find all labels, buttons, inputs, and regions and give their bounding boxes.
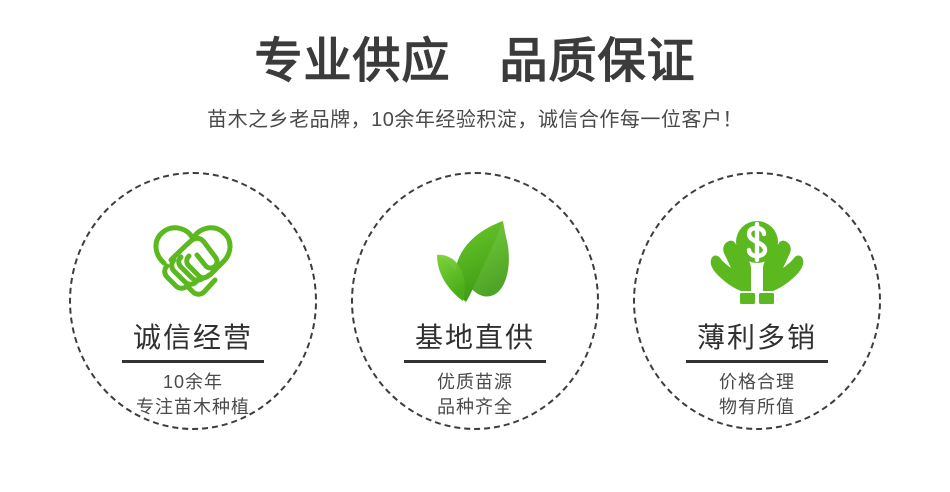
card-subtitle-line-2: 专注苗木种植: [136, 397, 250, 417]
card-subtitle-line-2: 品种齐全: [437, 397, 513, 417]
feature-card-integrity[interactable]: 诚信经营 10余年 专注苗木种植: [69, 172, 317, 430]
promo-banner: 专业供应 品质保证 苗木之乡老品牌，10余年经验积淀，诚信合作每一位客户！: [0, 0, 950, 492]
card-divider: [122, 360, 264, 363]
card-subtitle: 优质苗源 品种齐全: [437, 370, 513, 420]
card-divider: [404, 360, 546, 363]
card-subtitle-line-1: 10余年: [163, 372, 223, 392]
card-title: 基地直供: [415, 320, 535, 356]
feature-card-row: 诚信经营 10余年 专注苗木种植: [0, 172, 950, 434]
handshake-heart-icon: [147, 214, 239, 310]
card-subtitle: 价格合理 物有所值: [719, 370, 795, 420]
card-subtitle-line-1: 价格合理: [719, 372, 795, 392]
card-divider: [686, 360, 828, 363]
card-subtitle: 10余年 专注苗木种植: [136, 370, 250, 420]
feature-card-direct-supply[interactable]: 基地直供 优质苗源 品种齐全: [351, 172, 599, 430]
card-title: 薄利多销: [697, 320, 817, 356]
card-subtitle-line-1: 优质苗源: [437, 372, 513, 392]
sub-title: 苗木之乡老品牌，10余年经验积淀，诚信合作每一位客户！: [0, 92, 950, 134]
hands-holding-coin-icon: [709, 214, 805, 310]
feature-card-low-margin[interactable]: 薄利多销 价格合理 物有所值: [633, 172, 881, 430]
main-title: 专业供应 品质保证: [0, 0, 950, 92]
banner-header: 专业供应 品质保证 苗木之乡老品牌，10余年经验积淀，诚信合作每一位客户！: [0, 0, 950, 134]
card-title: 诚信经营: [133, 320, 253, 356]
leaf-icon: [429, 214, 521, 310]
card-subtitle-line-2: 物有所值: [719, 397, 795, 417]
